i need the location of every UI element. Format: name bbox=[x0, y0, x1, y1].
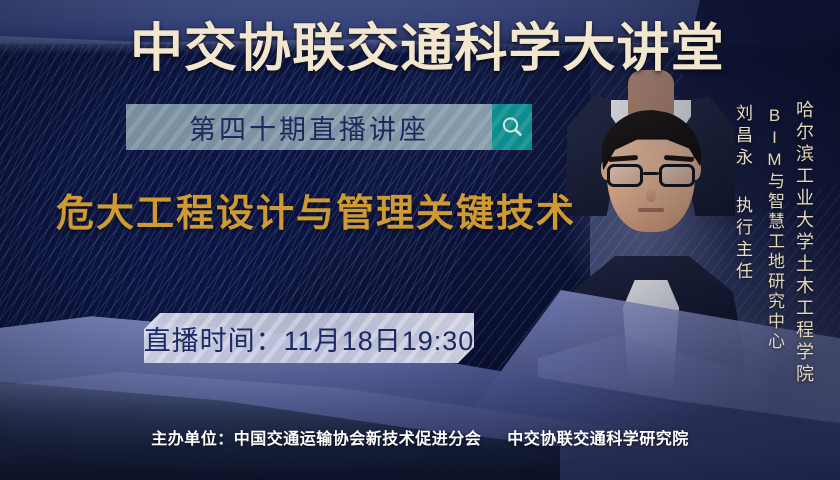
organizers-footer: 主办单位：中国交通运输协会新技术促进分会中交协联交通科学研究院 bbox=[0, 425, 840, 449]
episode-banner: 第四十期直播讲座 bbox=[126, 104, 492, 150]
search-icon bbox=[500, 115, 524, 139]
organizer-secondary: 中交协联交通科学研究院 bbox=[507, 431, 689, 448]
episode-label: 第四十期直播讲座 bbox=[189, 108, 429, 147]
speaker-affiliation: 哈尔滨工业大学土木工程学院 bbox=[791, 100, 817, 386]
page-title: 中交协联交通科学大讲堂 bbox=[130, 18, 722, 80]
speaker-research-center: BIM与智慧工地研究中心 bbox=[762, 106, 787, 352]
speaker-role: 执行主任 bbox=[730, 196, 755, 284]
poster-canvas: 中交协联交通科学大讲堂 第四十期直播讲座 危大工程设计与管理关键技术 直播时间：… bbox=[0, 0, 840, 480]
lecture-headline: 危大工程设计与管理关键技术 bbox=[56, 189, 576, 239]
search-icon-box[interactable] bbox=[492, 104, 532, 150]
speaker-name: 刘昌永 bbox=[730, 104, 755, 170]
broadcast-time-text: 直播时间：11月18日19:30 bbox=[144, 319, 474, 358]
organizers-prefix: 主办单位： bbox=[151, 431, 234, 448]
organizer-primary: 中国交通运输协会新技术促进分会 bbox=[234, 431, 482, 448]
broadcast-time-banner: 直播时间：11月18日19:30 bbox=[144, 313, 474, 363]
